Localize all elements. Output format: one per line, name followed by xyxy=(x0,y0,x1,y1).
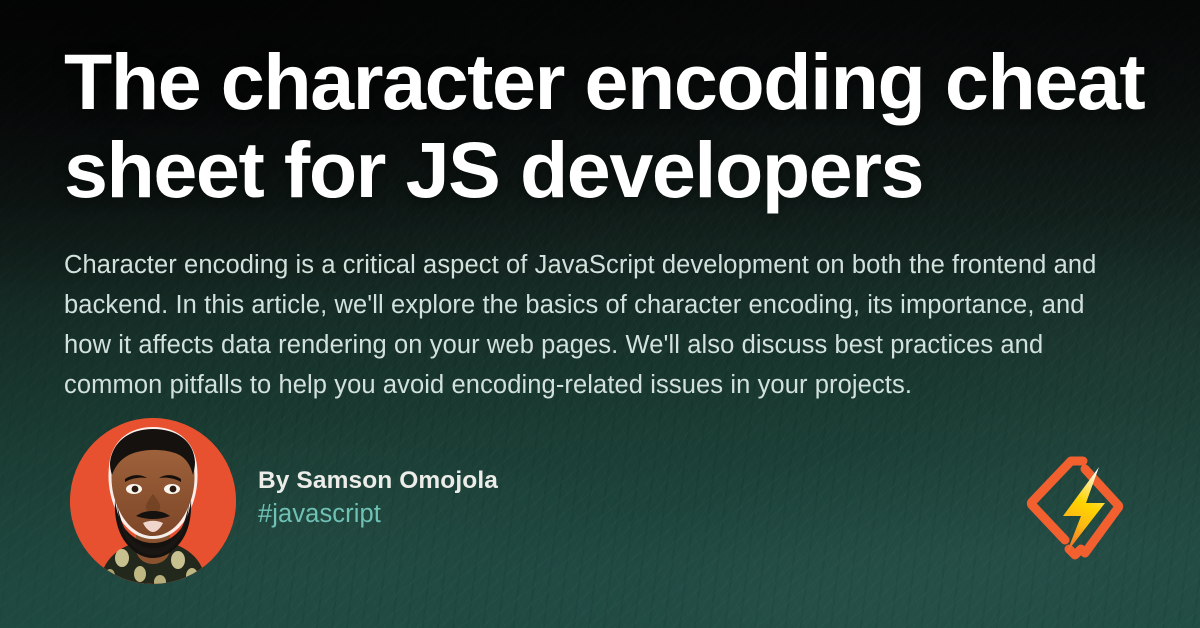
avatar xyxy=(70,418,236,584)
topic-tag[interactable]: #javascript xyxy=(258,497,818,531)
card-content: The character encoding cheat sheet for J… xyxy=(0,0,1200,628)
author-byline: By Samson Omojola #javascript xyxy=(258,465,818,531)
logrocket-logo-icon xyxy=(1023,450,1127,564)
page-title: The character encoding cheat sheet for J… xyxy=(64,38,1154,214)
author-name: By Samson Omojola xyxy=(258,465,818,497)
card-footer: By Samson Omojola #javascript xyxy=(64,413,1144,593)
article-description: Character encoding is a critical aspect … xyxy=(64,245,1134,405)
social-share-card: The character encoding cheat sheet for J… xyxy=(0,0,1200,628)
